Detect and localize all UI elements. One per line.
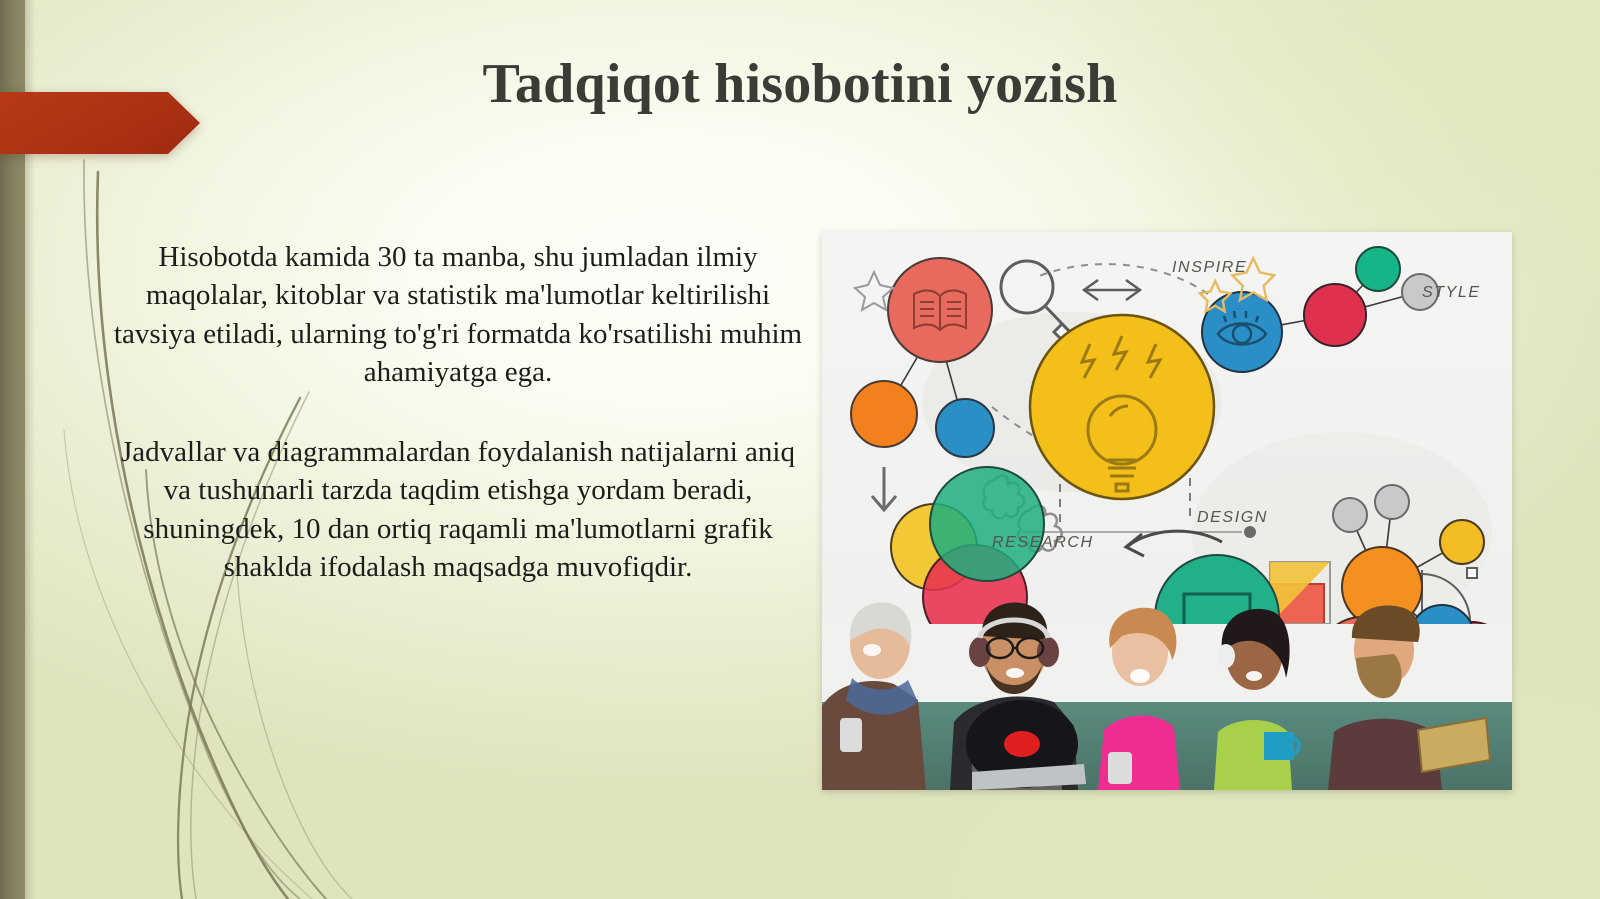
illustration-image: INSPIRE STYLE DESIGN RESEARCH — [822, 232, 1512, 790]
body-paragraph-2: Jadvallar va diagrammalardan foydalanish… — [108, 433, 808, 586]
label-inspire: INSPIRE — [1172, 259, 1247, 276]
presentation-slide: Tadqiqot hisobotini yozish Hisobotda kam… — [0, 0, 1600, 899]
label-design: DESIGN — [1197, 509, 1268, 526]
label-style: STYLE — [1422, 284, 1481, 301]
body-paragraph-1: Hisobotda kamida 30 ta manba, shu jumlad… — [108, 238, 808, 391]
collage-artwork: INSPIRE STYLE DESIGN RESEARCH — [822, 232, 1512, 790]
red-chevron-banner — [0, 92, 200, 154]
label-research: RESEARCH — [992, 534, 1094, 551]
chevron-shape — [0, 92, 200, 154]
people-photo-band — [822, 602, 1512, 790]
body-text-block: Hisobotda kamida 30 ta manba, shu jumlad… — [108, 238, 808, 586]
page-title: Tadqiqot hisobotini yozish — [230, 52, 1370, 116]
